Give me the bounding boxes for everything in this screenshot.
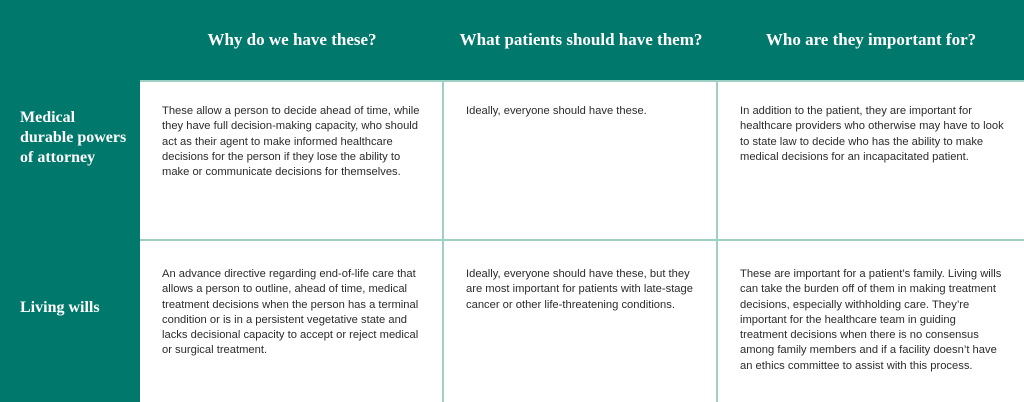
table-cell-mdpoa-why: These allow a person to decide ahead of … xyxy=(140,82,444,239)
table-cell-living-wills-why: An advance directive regarding end-of-li… xyxy=(140,241,444,402)
table-row: These allow a person to decide ahead of … xyxy=(140,82,1024,241)
table-cell-living-wills-who-important: These are important for a patient’s fami… xyxy=(718,241,1024,402)
column-header-row: Why do we have these? What patients shou… xyxy=(140,0,1024,80)
comparison-table: Why do we have these? What patients shou… xyxy=(0,0,1024,402)
column-header-who-important: Who are they important for? xyxy=(718,30,1024,50)
row-label-living-wills: Living wills xyxy=(0,298,140,318)
table-cell-mdpoa-what-patients: Ideally, everyone should have these. xyxy=(444,82,718,239)
row-label-column xyxy=(0,0,140,402)
table-cell-living-wills-what-patients: Ideally, everyone should have these, but… xyxy=(444,241,718,402)
table-body: These allow a person to decide ahead of … xyxy=(140,80,1024,402)
table-row: An advance directive regarding end-of-li… xyxy=(140,241,1024,402)
row-label-mdpoa: Medical durable powers of attorney xyxy=(0,108,140,168)
table-cell-mdpoa-who-important: In addition to the patient, they are imp… xyxy=(718,82,1024,239)
column-header-what-patients: What patients should have them? xyxy=(444,30,718,50)
column-header-why: Why do we have these? xyxy=(140,30,444,50)
